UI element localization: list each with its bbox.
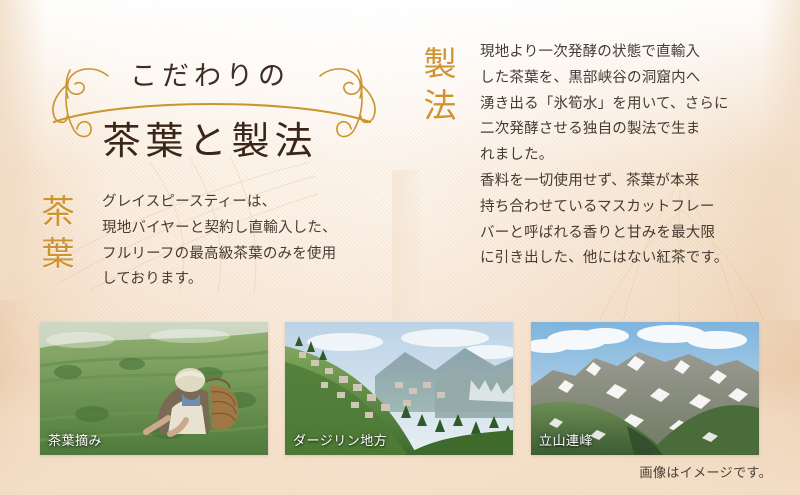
body-line: 二次発酵させる独自の製法で生ま <box>480 117 780 143</box>
body-line: 持ち合わせているマスカットフレー <box>480 195 780 221</box>
section-method: 製 法 現地より一次発酵の状態で直輸入 した茶葉を、黒部峡谷の洞窟内へ 湧き出る… <box>418 40 788 272</box>
section-method-body: 現地より一次発酵の状態で直輸入 した茶葉を、黒部峡谷の洞窟内へ 湧き出る「氷筍水… <box>480 40 780 272</box>
section-label-char: 法 <box>418 86 462 128</box>
photo-tateyama: 立山連峰 <box>531 322 759 455</box>
section-label-char: 茶 <box>36 192 80 234</box>
body-line: 現地より一次発酵の状態で直輸入 <box>480 40 780 66</box>
body-line: に引き出した、他にはない紅茶です。 <box>480 246 780 272</box>
panel-divider <box>392 170 420 320</box>
body-line: れました。 <box>480 143 780 169</box>
body-line: バーと呼ばれる香りと甘みを最大限 <box>480 221 780 247</box>
section-tea-leaves-label: 茶 葉 <box>36 192 80 293</box>
body-line: グレイスピースティーは、 <box>102 190 392 216</box>
body-line: 香料を一切使用せず、茶葉が本来 <box>480 169 780 195</box>
section-method-label: 製 法 <box>418 44 462 272</box>
title-block: こだわりの 茶葉と製法 <box>30 26 390 166</box>
body-line: 現地バイヤーと契約し直輸入した、 <box>102 216 392 242</box>
image-disclaimer: 画像はイメージです。 <box>640 462 772 481</box>
photo-caption: 立山連峰 <box>539 430 593 449</box>
photo-caption: ダージリン地方 <box>293 430 387 449</box>
page-title: 茶葉と製法 <box>30 110 390 165</box>
body-line: した茶葉を、黒部峡谷の洞窟内へ <box>480 66 780 92</box>
promo-banner: こだわりの 茶葉と製法 茶 葉 グレイスピースティーは、 現地バイヤーと契約し直… <box>0 0 800 495</box>
body-line: しております。 <box>102 267 392 293</box>
photo-darjeeling: ダージリン地方 <box>285 322 513 455</box>
section-tea-leaves: 茶 葉 グレイスピースティーは、 現地バイヤーと契約し直輸入した、 フルリーフの… <box>36 190 396 293</box>
section-label-char: 葉 <box>36 234 80 276</box>
title-overline: こだわりの <box>30 54 390 93</box>
section-label-char: 製 <box>418 44 462 86</box>
section-tea-leaves-body: グレイスピースティーは、 現地バイヤーと契約し直輸入した、 フルリーフの最高級茶… <box>102 190 392 293</box>
photo-tea-picking: 茶葉摘み <box>40 322 268 455</box>
body-line: フルリーフの最高級茶葉のみを使用 <box>102 242 392 268</box>
body-line: 湧き出る「氷筍水」を用いて、さらに <box>480 92 780 118</box>
photo-caption: 茶葉摘み <box>48 430 102 449</box>
